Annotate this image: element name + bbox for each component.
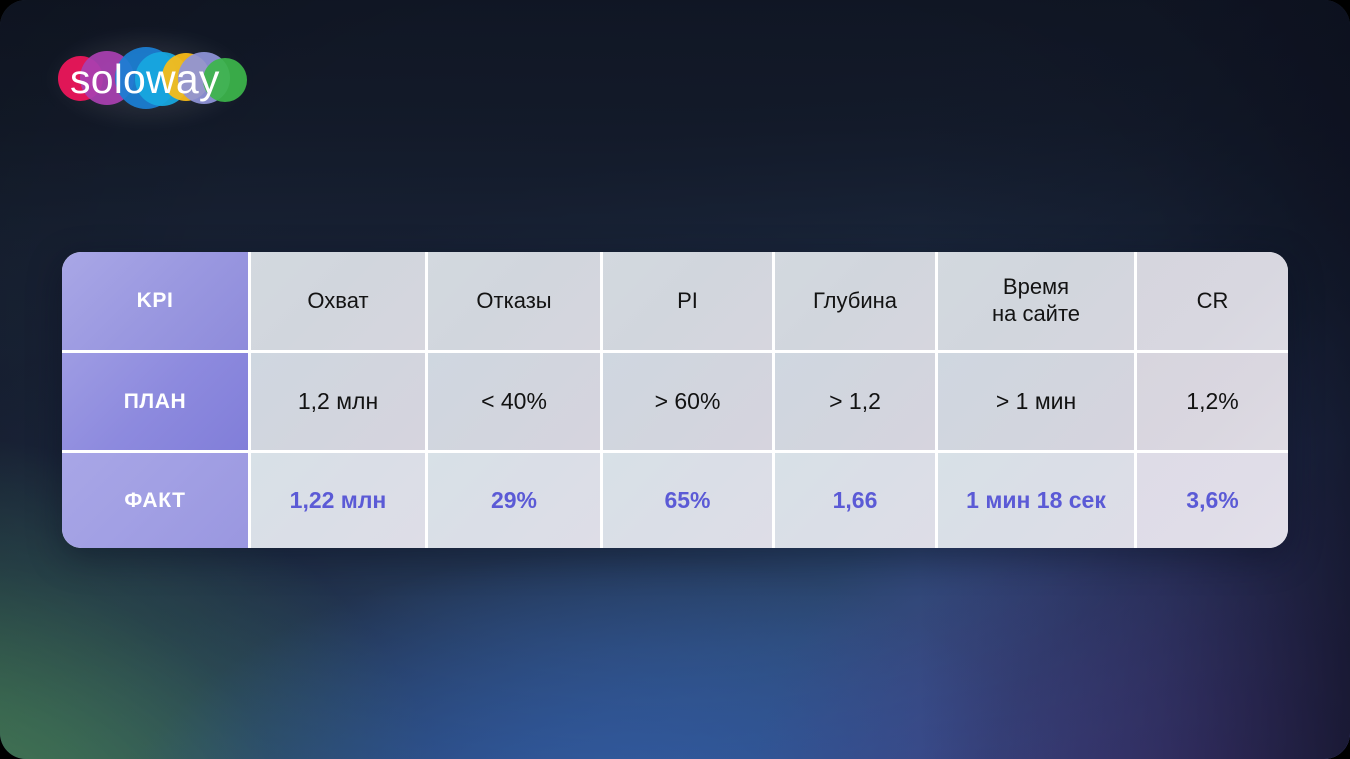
value-fact-bounces: 29% <box>491 487 537 514</box>
row-label-plan-text: ПЛАН <box>124 390 187 414</box>
header-label-time-line1: Время <box>992 274 1080 301</box>
table-cell-fact-pi: 65% <box>603 450 775 548</box>
table-header-cell-bounces: Отказы <box>428 252 603 350</box>
table-cell-fact-time-on-site: 1 мин 18 сек <box>938 450 1137 548</box>
table-cell-fact-reach: 1,22 млн <box>251 450 428 548</box>
header-label-kpi: KPI <box>137 289 174 313</box>
header-label-depth: Глубина <box>813 288 897 315</box>
table-header-cell-time-on-site: Время на сайте <box>938 252 1137 350</box>
table-header-cell-cr: CR <box>1137 252 1288 350</box>
value-plan-bounces: < 40% <box>481 388 547 415</box>
table-cell-plan-pi: > 60% <box>603 350 775 450</box>
table-header-cell-pi: PI <box>603 252 775 350</box>
table-cell-fact-cr: 3,6% <box>1137 450 1288 548</box>
table-header-row: KPI Охват Отказы PI Глубина Время на сай… <box>62 252 1288 350</box>
header-label-bounces: Отказы <box>476 288 551 315</box>
table-cell-fact-bounces: 29% <box>428 450 603 548</box>
header-label-cr: CR <box>1197 288 1229 315</box>
table-cell-plan-reach: 1,2 млн <box>251 350 428 450</box>
table-row-plan: ПЛАН 1,2 млн < 40% > 60% > 1,2 > 1 мин 1… <box>62 350 1288 450</box>
table-cell-plan-time-on-site: > 1 мин <box>938 350 1137 450</box>
table-cell-plan-bounces: < 40% <box>428 350 603 450</box>
table-cell-plan-depth: > 1,2 <box>775 350 938 450</box>
value-plan-depth: > 1,2 <box>829 388 881 415</box>
row-label-plan: ПЛАН <box>62 350 251 450</box>
header-label-pi: PI <box>677 288 698 315</box>
row-label-fact: ФАКТ <box>62 450 251 548</box>
value-fact-pi: 65% <box>664 487 710 514</box>
header-label-reach: Охват <box>307 288 368 315</box>
kpi-table: KPI Охват Отказы PI Глубина Время на сай… <box>62 252 1288 548</box>
value-plan-time-on-site: > 1 мин <box>996 388 1076 415</box>
value-fact-depth: 1,66 <box>833 487 878 514</box>
table-header-cell-kpi: KPI <box>62 252 251 350</box>
row-label-fact-text: ФАКТ <box>124 489 185 513</box>
value-fact-reach: 1,22 млн <box>290 487 387 514</box>
table-cell-plan-cr: 1,2% <box>1137 350 1288 450</box>
value-plan-reach: 1,2 млн <box>298 388 378 415</box>
logo-wordmark: soloway <box>62 50 232 108</box>
table-cell-fact-depth: 1,66 <box>775 450 938 548</box>
header-label-time-on-site: Время на сайте <box>992 274 1080 328</box>
value-plan-pi: > 60% <box>655 388 721 415</box>
value-fact-cr: 3,6% <box>1186 487 1238 514</box>
table-row-fact: ФАКТ 1,22 млн 29% 65% 1,66 1 мин 18 сек … <box>62 450 1288 548</box>
slide-canvas: soloway KPI Охват Отказы PI Глубина Врем… <box>0 0 1350 759</box>
header-label-time-line2: на сайте <box>992 301 1080 328</box>
value-fact-time-on-site: 1 мин 18 сек <box>966 487 1106 514</box>
soloway-logo[interactable]: soloway <box>62 50 232 108</box>
table-header-cell-depth: Глубина <box>775 252 938 350</box>
table-header-cell-reach: Охват <box>251 252 428 350</box>
value-plan-cr: 1,2% <box>1186 388 1238 415</box>
